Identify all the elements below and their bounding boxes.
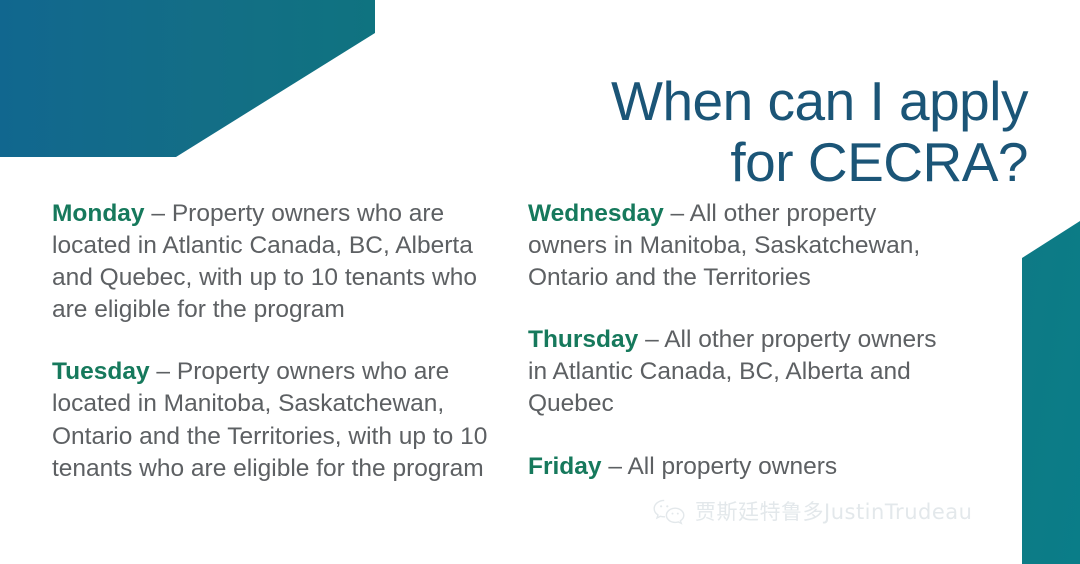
schedule-entry-wednesday: Wednesday – All other property owners in… — [528, 198, 948, 294]
schedule-text-friday: All property owners — [627, 453, 837, 480]
slide-canvas: When can I apply for CECRA? Monday – Pro… — [0, 0, 1080, 564]
day-label-tuesday: Tuesday — [52, 358, 150, 385]
day-label-thursday: Thursday — [528, 326, 638, 353]
dash-glyph-thursday: – — [645, 326, 659, 353]
top-left-banner-shape — [0, 0, 375, 157]
dash-glyph-friday: – — [608, 453, 622, 480]
schedule-entry-friday: Friday – All property owners — [528, 451, 948, 483]
title-line-1: When can I apply — [388, 71, 1028, 133]
schedule-entry-monday: Monday – Property owners who are located… — [52, 198, 504, 326]
page-title: When can I apply for CECRA? — [388, 71, 1028, 194]
title-line-2: for CECRA? — [388, 132, 1028, 194]
day-label-friday: Friday — [528, 453, 602, 480]
day-label-monday: Monday — [52, 200, 145, 227]
watermark: 贾斯廷特鲁多JustinTrudeau — [652, 498, 972, 526]
dash-glyph-wednesday: – — [671, 200, 685, 227]
schedule-column-left: Monday – Property owners who are located… — [52, 198, 504, 485]
schedule-entry-tuesday: Tuesday – Property owners who are locate… — [52, 356, 504, 484]
wechat-icon — [652, 498, 686, 526]
schedule-entry-thursday: Thursday – All other property owners in … — [528, 324, 948, 420]
dash-wednesday — [664, 200, 671, 227]
schedule-columns: Monday – Property owners who are located… — [0, 198, 1080, 528]
schedule-column-right: Wednesday – All other property owners in… — [528, 198, 948, 483]
dash-glyph-tuesday: – — [156, 358, 170, 385]
day-label-wednesday: Wednesday — [528, 200, 664, 227]
watermark-text: 贾斯廷特鲁多JustinTrudeau — [695, 502, 972, 523]
dash-glyph-monday: – — [151, 200, 165, 227]
